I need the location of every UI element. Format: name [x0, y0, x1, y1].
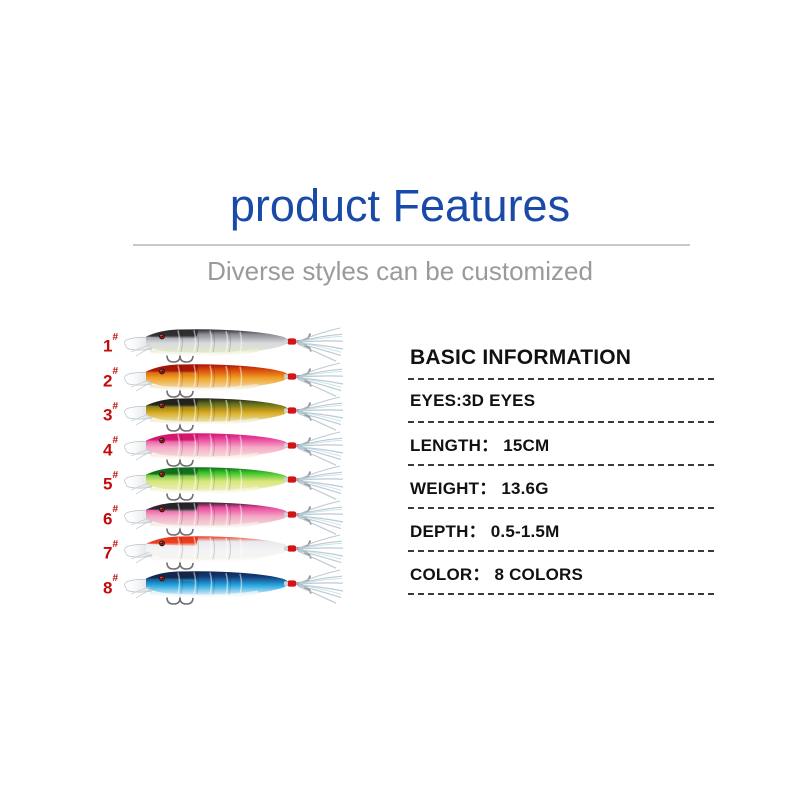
page-header: product Features Diverse styles can be c… [0, 178, 800, 234]
lure-row[interactable]: 8# [84, 564, 394, 608]
lure-gallery: 1# [84, 322, 394, 612]
lure-number-suffix: # [112, 504, 118, 515]
lure-tail-collar [287, 338, 297, 344]
lure-number-label: 5# [88, 472, 118, 493]
lure-eye-glint [161, 473, 162, 474]
lure-tail-collar [287, 511, 297, 517]
info-row: WEIGHT： 13.6G [408, 466, 714, 507]
page-title: product Features [0, 178, 800, 234]
lure-number-label: 7# [88, 541, 118, 562]
info-row-text: WEIGHT： 13.6G [410, 474, 549, 499]
info-row-text: COLOR： 8 COLORS [410, 560, 583, 585]
lure-eye-glint [161, 335, 162, 336]
info-row-text: EYES:3D EYES [410, 391, 535, 411]
lure-tail-collar [287, 545, 297, 551]
title-divider [133, 244, 690, 246]
lure-number-suffix: # [112, 470, 118, 481]
info-row-separator [408, 593, 714, 595]
lure-eye-glint [161, 369, 162, 370]
basic-information-panel: BASIC INFORMATION EYES:3D EYESLENGTH： 15… [408, 345, 714, 595]
lure-tail-collar [287, 373, 297, 379]
lure-eye-glint [161, 576, 162, 577]
lure-tail-collar [287, 407, 297, 413]
lure-image[interactable] [120, 564, 390, 608]
lure-number-suffix: # [112, 401, 118, 412]
lure-tail-collar [287, 442, 297, 448]
lure-number-label: 1# [88, 334, 118, 355]
lure-number-label: 2# [88, 369, 118, 390]
lure-tail-collar [287, 580, 297, 586]
lure-eye-glint [161, 404, 162, 405]
lure-number-suffix: # [112, 332, 118, 343]
lure-number-label: 8# [88, 576, 118, 597]
lure-number-suffix: # [112, 539, 118, 550]
lure-number-suffix: # [112, 435, 118, 446]
lure-eye-glint [161, 542, 162, 543]
info-row-text: LENGTH： 15CM [410, 431, 549, 456]
lure-number-suffix: # [112, 573, 118, 584]
info-row: EYES:3D EYES [408, 380, 714, 421]
lure-eye-glint [161, 438, 162, 439]
lure-number-suffix: # [112, 366, 118, 377]
lure-number-label: 3# [88, 403, 118, 424]
info-row: COLOR： 8 COLORS [408, 552, 714, 593]
info-panel-heading: BASIC INFORMATION [410, 345, 714, 371]
info-row-text: DEPTH： 0.5-1.5M [410, 517, 559, 542]
info-row: DEPTH： 0.5-1.5M [408, 509, 714, 550]
page-subtitle: Diverse styles can be customized [0, 254, 800, 288]
info-row: LENGTH： 15CM [408, 423, 714, 464]
lure-eye-glint [161, 507, 162, 508]
lure-number-label: 6# [88, 507, 118, 528]
lure-tail-collar [287, 476, 297, 482]
lure-number-label: 4# [88, 438, 118, 459]
info-rows: EYES:3D EYESLENGTH： 15CMWEIGHT： 13.6GDEP… [408, 378, 714, 595]
